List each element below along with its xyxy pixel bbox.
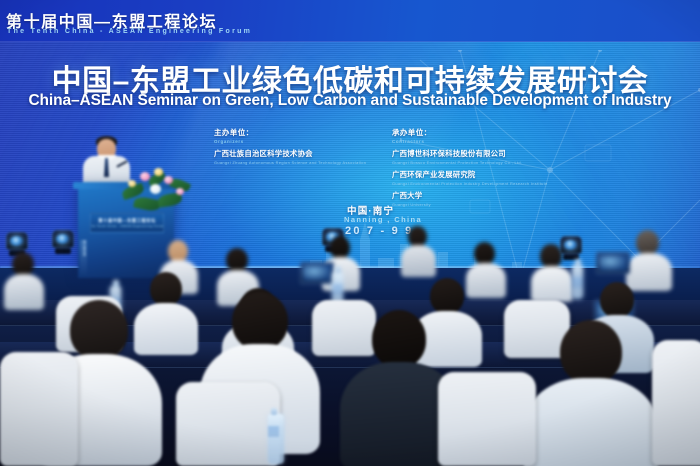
host-label-en: Organizers [214, 139, 366, 144]
conference-photo: 第十届中国—东盟工程论坛 The Tenth China - ASEAN Eng… [0, 0, 700, 466]
undertaker-name-en: Guangxi Bossco Environmental Protection … [392, 160, 548, 165]
flower-arrangement [120, 168, 194, 216]
host-name-cn: 广西壮族自治区科学技术协会 [214, 148, 366, 159]
chair [438, 372, 536, 466]
podium-sign-cn: 第十届中国—东盟工程论坛 [98, 218, 156, 224]
stage-light-left-1 [6, 232, 28, 250]
undertaker-organizer-block: 承办单位： Contractors 广西博世科环保科技股份有限公司 Guangx… [392, 127, 548, 207]
chair [0, 352, 78, 466]
podium-name-plate: 第十届中国—东盟工程论坛 The Tenth China - ASEAN Eng… [90, 213, 164, 233]
host-label-cn: 主办单位： [214, 127, 366, 138]
forum-ribbon-title-en: The Tenth China - ASEAN Engineering Foru… [7, 28, 252, 35]
event-place-en: Nanning , China [344, 215, 422, 224]
laptop [596, 252, 630, 274]
water-bottle [268, 414, 284, 464]
undertaker-label-en: Contractors [392, 139, 548, 144]
stage-light-left-2 [52, 230, 74, 248]
undertaker-name-cn: 广西大学 [392, 190, 548, 201]
event-date: 20 7 - 9 9 [345, 225, 413, 237]
water-bottle [572, 265, 583, 299]
chair [652, 340, 700, 466]
podium-sign-en: The Tenth China - ASEAN Engineering Foru… [90, 225, 164, 228]
stage-light-right-2 [560, 236, 582, 254]
undertaker-name-cn: 广西博世科环保科技股份有限公司 [392, 148, 548, 159]
host-name-en: Guangxi Zhuang Autonomous Region Science… [214, 160, 366, 165]
host-organizer-block: 主办单位： Organizers 广西壮族自治区科学技术协会 Guangxi Z… [214, 127, 366, 165]
chair [176, 382, 280, 466]
podium-side-text: 第十届中国 [80, 240, 87, 276]
chair [312, 300, 376, 356]
undertaker-label-cn: 承办单位： [392, 127, 548, 138]
undertaker-name-cn: 广西环保产业发展研究院 [392, 169, 548, 180]
undertaker-name-en: Guangxi University [392, 202, 548, 207]
seminar-title-en: China–ASEAN Seminar on Green, Low Carbon… [0, 92, 700, 110]
laptop [300, 262, 334, 284]
undertaker-name-en: Guangxi Environmental Protection Industr… [392, 181, 548, 186]
forum-ribbon-band: 第十届中国—东盟工程论坛 The Tenth China - ASEAN Eng… [0, 0, 700, 42]
